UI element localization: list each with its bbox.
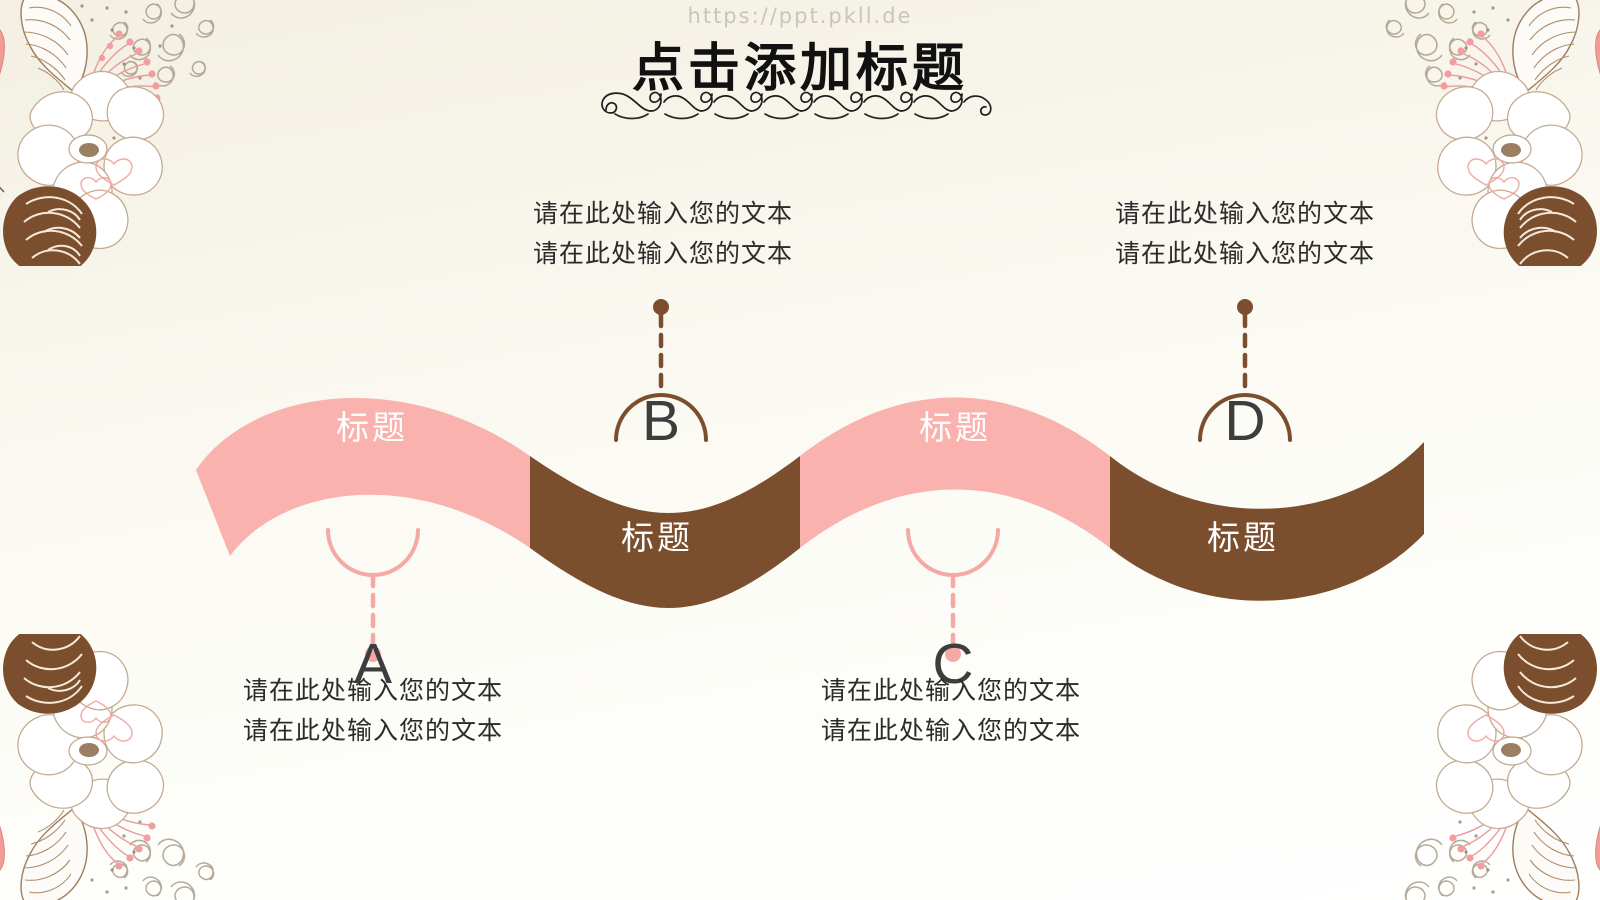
floral-corner-bottom-left-icon: [0, 634, 274, 900]
watermark-url: https://ppt.pkll.de: [0, 4, 1600, 28]
flourish-divider-icon: [600, 84, 1000, 124]
marker-b[interactable]: B: [596, 285, 726, 575]
text-block-a[interactable]: 请在此处输入您的文本 请在此处输入您的文本: [243, 672, 503, 751]
text-block-a-line-1: 请在此处输入您的文本: [243, 672, 503, 712]
marker-d-letter: D: [1180, 393, 1310, 450]
text-block-b-line-2: 请在此处输入您的文本: [533, 235, 793, 275]
wave-ribbon-diagram: [0, 360, 1600, 610]
text-block-c[interactable]: 请在此处输入您的文本 请在此处输入您的文本: [821, 672, 1081, 751]
text-block-b[interactable]: 请在此处输入您的文本 请在此处输入您的文本: [533, 195, 793, 274]
text-block-b-line-1: 请在此处输入您的文本: [533, 195, 793, 235]
text-block-a-line-2: 请在此处输入您的文本: [243, 712, 503, 752]
slide-canvas: https://ppt.pkll.de 点击添加标题: [0, 0, 1600, 900]
text-block-d-line-2: 请在此处输入您的文本: [1115, 235, 1375, 275]
text-block-d-line-1: 请在此处输入您的文本: [1115, 195, 1375, 235]
text-block-c-line-1: 请在此处输入您的文本: [821, 672, 1081, 712]
marker-d[interactable]: D: [1180, 285, 1310, 575]
text-block-d[interactable]: 请在此处输入您的文本 请在此处输入您的文本: [1115, 195, 1375, 274]
marker-b-letter: B: [596, 393, 726, 450]
floral-corner-bottom-right-icon: [1326, 634, 1600, 900]
text-block-c-line-2: 请在此处输入您的文本: [821, 712, 1081, 752]
